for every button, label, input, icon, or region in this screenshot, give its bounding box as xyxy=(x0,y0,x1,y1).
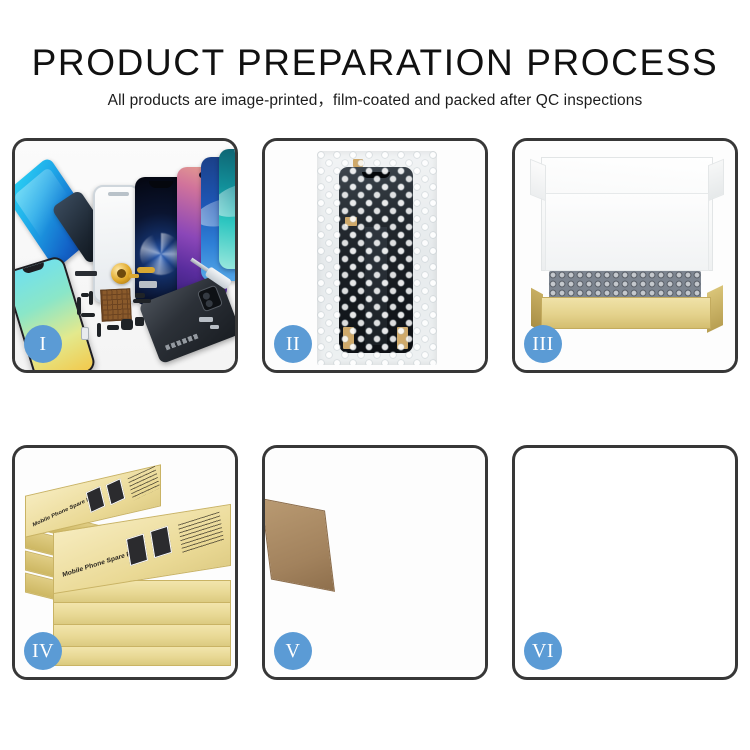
process-step-grid: I II xyxy=(12,138,738,690)
flex-part xyxy=(89,291,93,305)
small-component xyxy=(135,317,144,326)
label-screen-swatch xyxy=(126,533,148,566)
process-step-6: VI xyxy=(512,445,738,680)
label-screen-swatch xyxy=(150,526,172,559)
page-title: PRODUCT PREPARATION PROCESS xyxy=(0,42,750,84)
label-spec-lines xyxy=(128,466,161,501)
stacked-box xyxy=(53,646,231,666)
step-badge-2: II xyxy=(274,325,312,363)
tape-seal xyxy=(515,466,531,484)
step-badge-5: V xyxy=(274,632,312,670)
teal-wave-phone xyxy=(219,149,235,269)
process-step-4: Mobile Phone Spare Parts Mobile Phone Sp… xyxy=(12,445,238,680)
carton-flap-left xyxy=(265,498,335,592)
step-1-image: I xyxy=(15,141,235,370)
bubble-wrap-bag xyxy=(317,151,437,365)
flex-part xyxy=(81,313,95,317)
step-badge-1: I xyxy=(24,325,62,363)
bubble-texture xyxy=(317,151,437,365)
flex-part xyxy=(77,297,81,315)
step-4-image: Mobile Phone Spare Parts Mobile Phone Sp… xyxy=(15,448,235,677)
step-badge-4: IV xyxy=(24,632,62,670)
stacked-box xyxy=(53,624,231,648)
white-foam-sheet xyxy=(545,193,709,271)
carton-flap-right xyxy=(421,510,483,588)
step-badge-6: VI xyxy=(524,632,562,670)
page-subtitle: All products are image-printed，film-coat… xyxy=(0,88,750,110)
step-3-image: III xyxy=(515,141,735,370)
flex-part xyxy=(129,274,139,278)
tape-seal xyxy=(515,448,531,466)
label-screen-swatch xyxy=(86,486,106,513)
flex-part xyxy=(133,299,151,303)
flex-part xyxy=(139,281,157,288)
process-step-5: V xyxy=(262,445,488,680)
small-component xyxy=(81,327,89,340)
flex-part xyxy=(81,293,89,297)
copper-chip-grid-part xyxy=(100,288,132,322)
bubble-wrap-bundle xyxy=(549,271,701,299)
flex-part xyxy=(135,293,145,298)
screw-set xyxy=(199,317,213,322)
small-component xyxy=(121,319,133,330)
flex-part xyxy=(97,323,101,337)
label-spec-lines xyxy=(178,512,224,554)
tempered-glass-protector xyxy=(93,185,140,303)
camera-module-icon xyxy=(197,285,224,313)
yellow-inner-box xyxy=(541,297,711,329)
product-preparation-infographic: PRODUCT PREPARATION PROCESS All products… xyxy=(0,0,750,750)
process-step-1: I xyxy=(12,138,238,373)
step-6-image: VI xyxy=(515,448,735,677)
stacked-box xyxy=(53,602,231,626)
step-2-image: II xyxy=(265,141,485,370)
label-screen-swatch xyxy=(106,478,126,505)
step-badge-3: III xyxy=(524,325,562,363)
screw-set xyxy=(210,325,219,329)
flex-part xyxy=(137,267,155,273)
step-5-image: V xyxy=(265,448,485,677)
process-step-3: III xyxy=(512,138,738,373)
frame-printed-text xyxy=(165,334,199,351)
flex-part xyxy=(107,325,119,330)
flex-part xyxy=(75,271,97,276)
process-step-2: II xyxy=(262,138,488,373)
